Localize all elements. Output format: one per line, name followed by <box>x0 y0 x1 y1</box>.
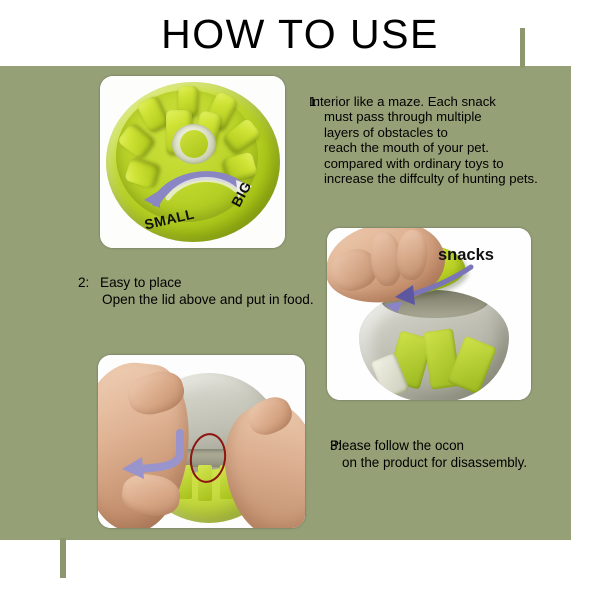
step-3-body: on the product for disassembly. <box>330 455 580 472</box>
decorative-tick-bottom <box>60 538 66 578</box>
twist-direction-arrow-icon <box>114 427 194 483</box>
step-1-text: Interior like a maze. Each snackmust pas… <box>309 94 587 186</box>
how-to-use-infographic: HOW TO USE SMALL B <box>0 0 600 600</box>
photo-disassembly <box>98 355 305 528</box>
photo-card-lid-open: snacks <box>327 228 531 400</box>
step-2-body: Open the lid above and put in food. <box>78 292 328 309</box>
step-1-lead: Interior like a maze. Each snack <box>309 94 496 109</box>
step-3-lead: Please follow the ocon <box>330 438 464 453</box>
step-1-body: must pass through multiple layers of obs… <box>309 109 587 186</box>
step-2-number: 2: <box>78 275 89 292</box>
photo-card-maze-disc: SMALL BIG <box>100 76 285 248</box>
photo-card-disassembly <box>98 355 305 528</box>
step-2-text: Easy to placeOpen the lid above and put … <box>78 275 328 308</box>
step-3-number: 3: <box>330 438 341 455</box>
step-2-lead: Easy to place <box>78 275 182 292</box>
photo-maze-disc: SMALL BIG <box>100 76 285 248</box>
page-title: HOW TO USE <box>0 8 600 60</box>
step-3-text: Please follow the oconon the product for… <box>330 438 580 471</box>
step-1-number: 1: <box>309 94 320 109</box>
photo-lid-open: snacks <box>327 228 531 400</box>
snacks-pointer-arrow-icon <box>383 261 479 317</box>
label-snacks: snacks <box>438 246 494 265</box>
